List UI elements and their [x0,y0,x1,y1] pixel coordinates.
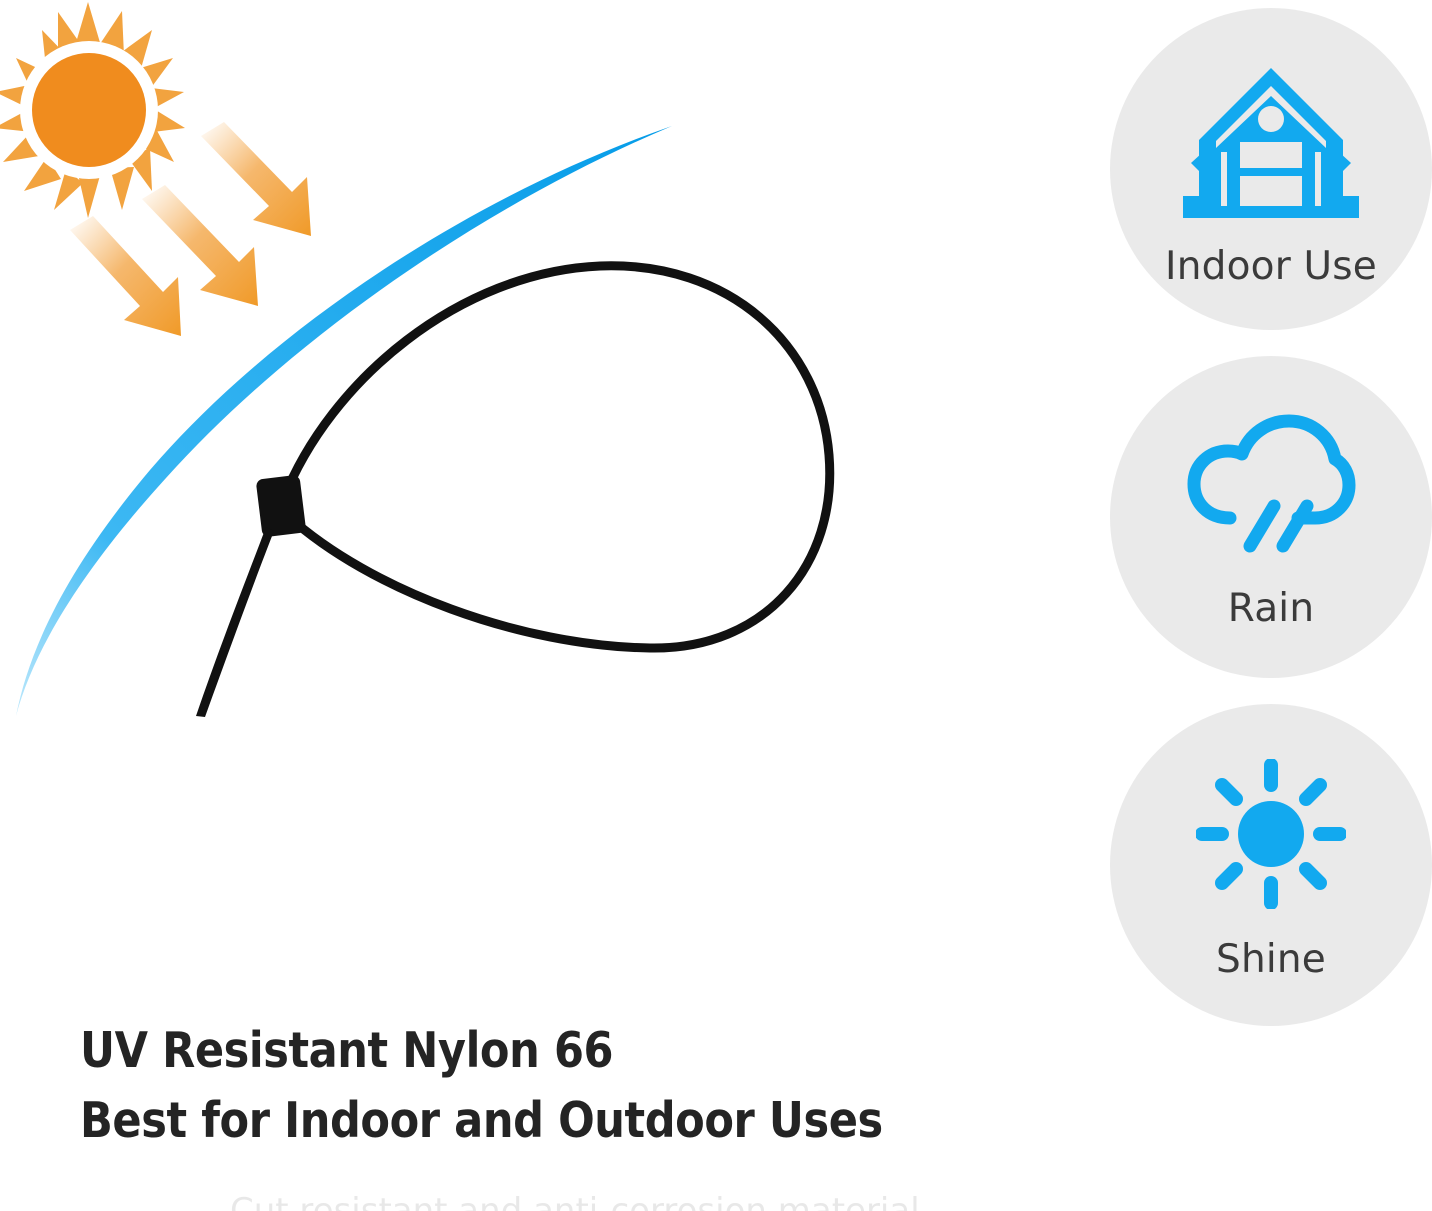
badge-label-rain: Rain [1228,586,1315,631]
uv-shield-arc [16,126,672,716]
uv-ray-arrow-3 [201,122,311,236]
badge-indoor-use[interactable]: Indoor Use [1110,8,1432,330]
uv-ray-arrow-1 [70,216,181,336]
feature-badge-list: Indoor Use Rain [1110,8,1432,1052]
house-icon [1183,56,1359,224]
rain-cloud-icon [1186,414,1356,556]
sun-icon [0,2,185,218]
badge-shine[interactable]: Shine [1110,704,1432,1026]
headline-block: UV Resistant Nylon 66 Best for Indoor an… [80,1016,1080,1156]
sun-shine-icon [1196,759,1346,909]
infographic-page: Indoor Use Rain [0,0,1432,1211]
cable-tie-illustration [196,266,830,717]
subline-text: Cut resistant and anti-corrosion materia… [230,1192,1050,1211]
headline-line-2: Best for Indoor and Outdoor Uses [80,1086,960,1156]
uv-ray-arrow-2 [142,185,258,306]
badge-rain[interactable]: Rain [1110,356,1432,678]
subline-clipped: Cut resistant and anti-corrosion materia… [230,1192,1050,1211]
headline-line-1: UV Resistant Nylon 66 [80,1016,960,1086]
product-illustration [0,0,1060,1000]
badge-label-shine: Shine [1216,937,1326,982]
badge-label-indoor-use: Indoor Use [1165,244,1377,289]
